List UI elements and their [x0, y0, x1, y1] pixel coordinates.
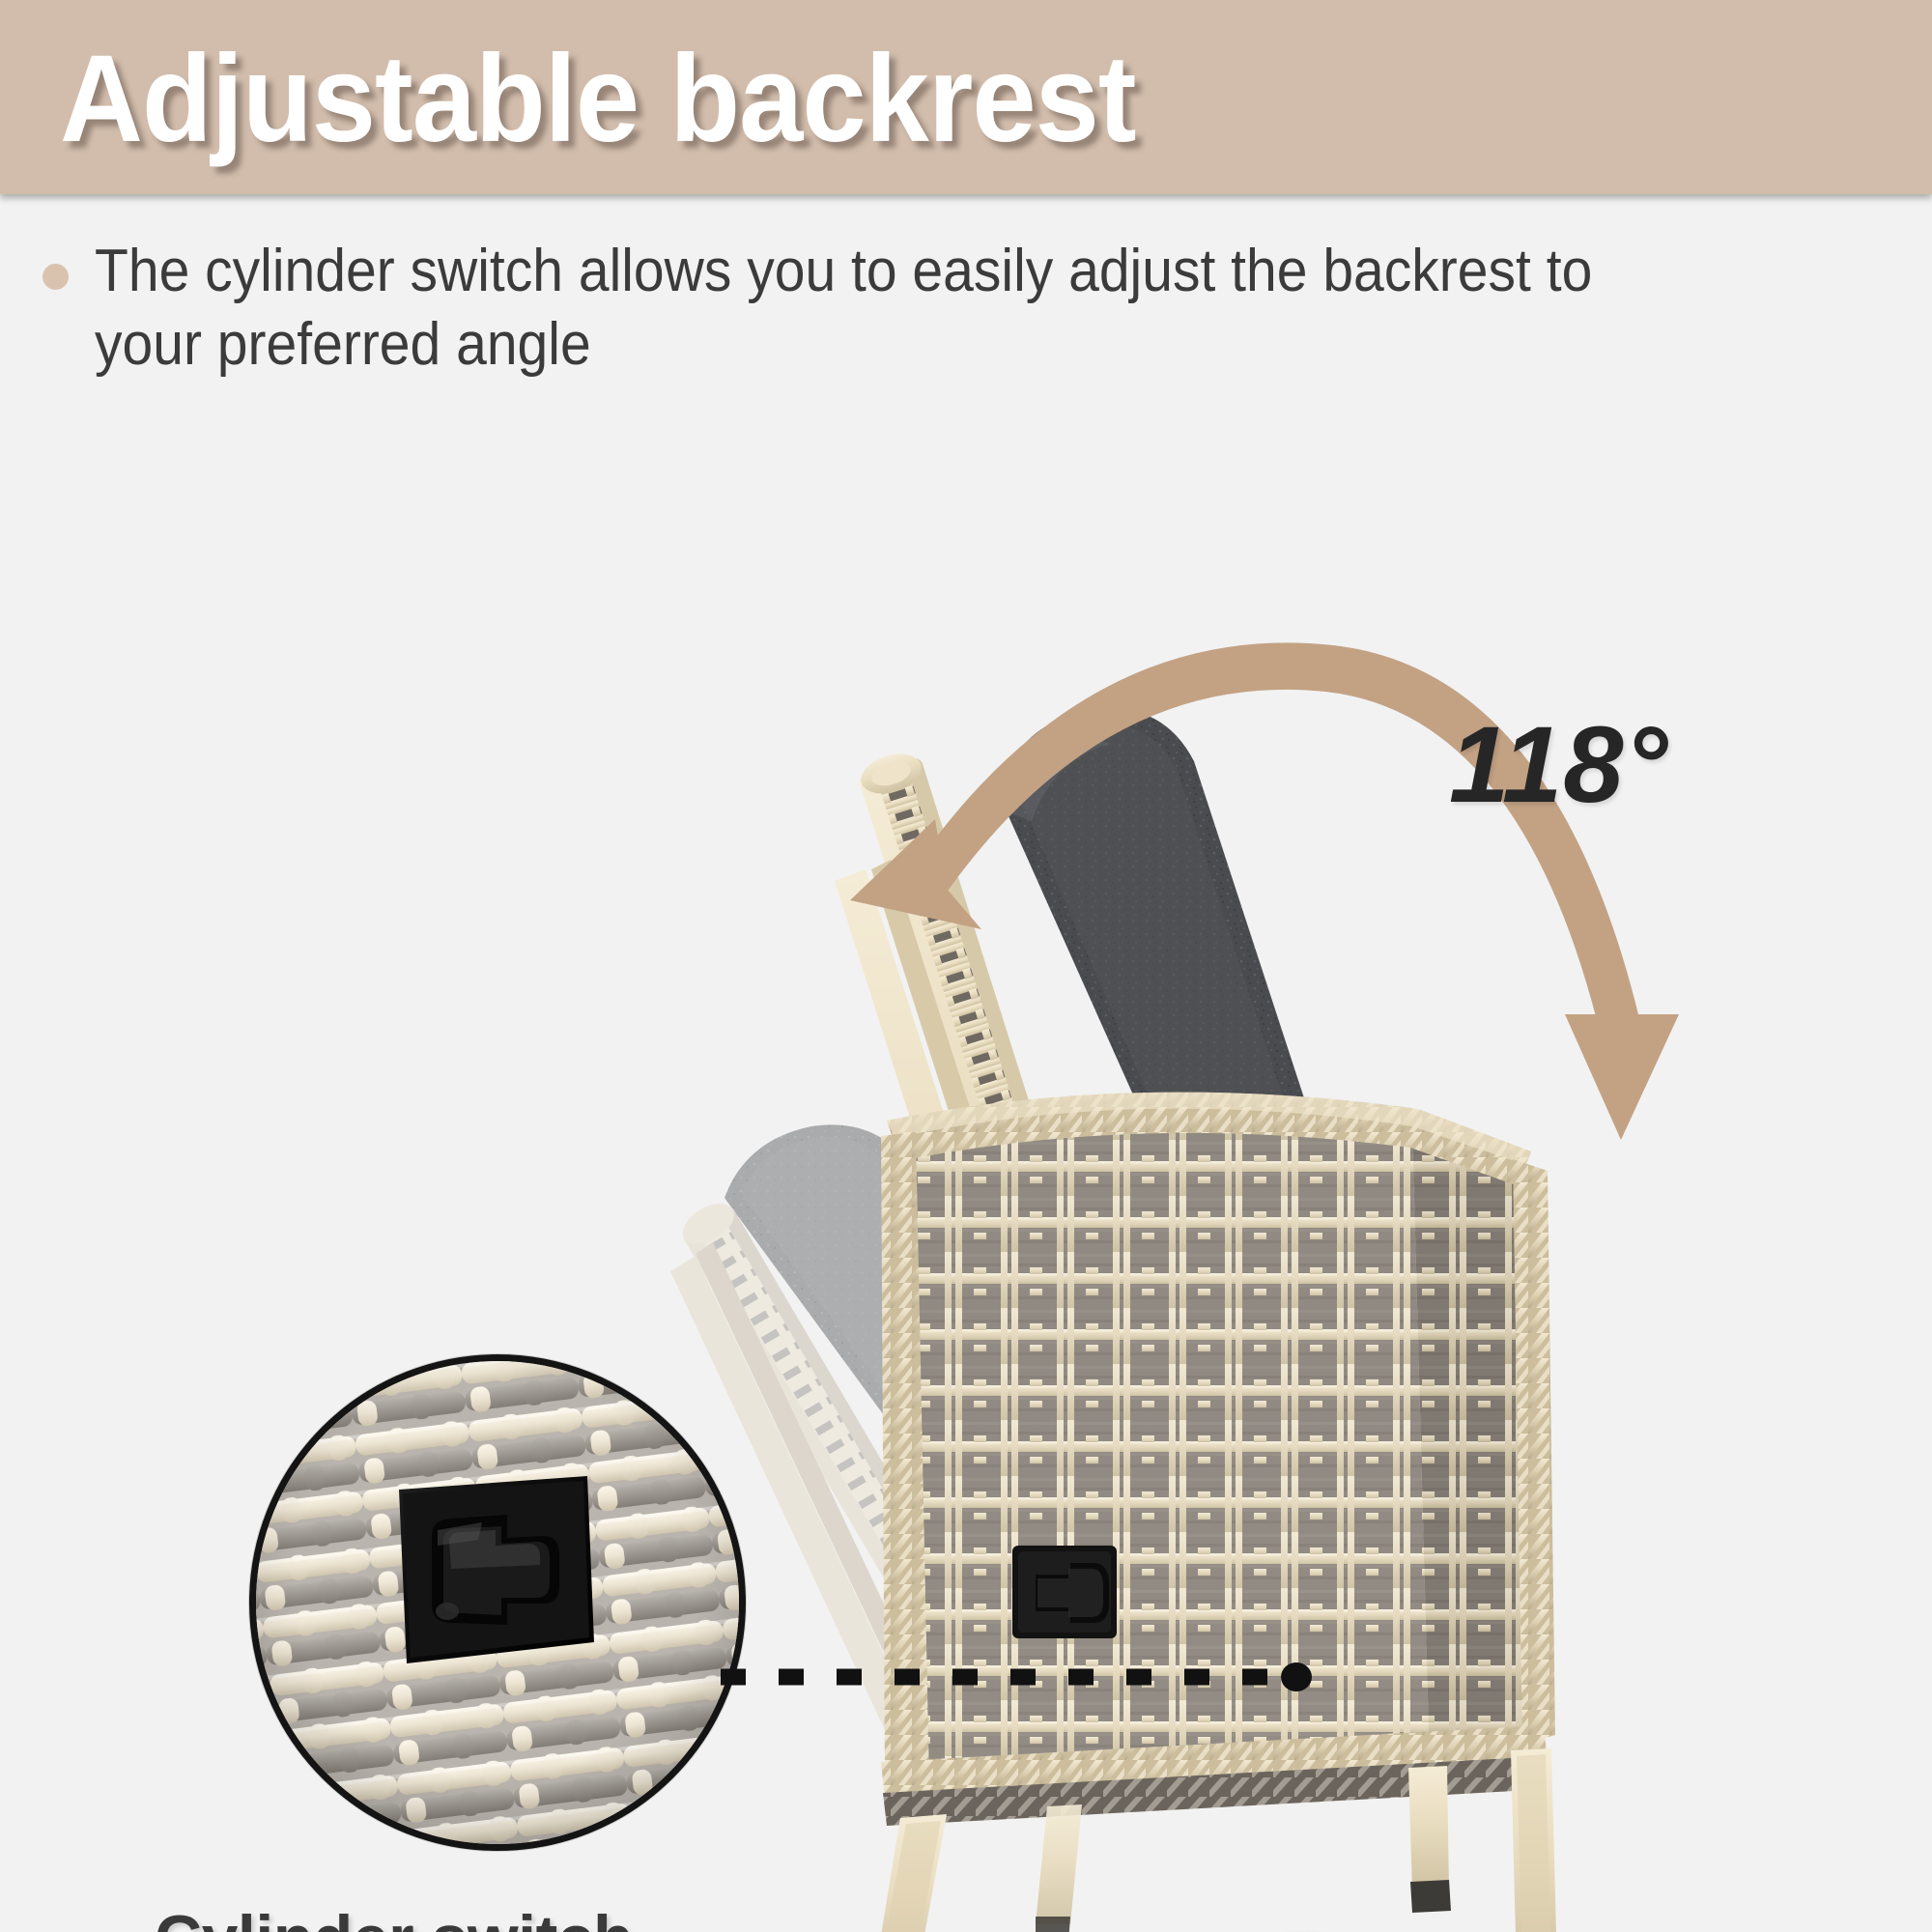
feature-bullet-text: The cylinder switch allows you to easily…: [95, 235, 1686, 382]
callout-connector-line: [717, 1662, 1316, 1692]
angle-value-label: 118°: [1449, 702, 1668, 827]
arrow-down-icon: [1565, 1014, 1679, 1140]
bullet-dot-icon: [43, 264, 69, 290]
callout-caption: Cylinder switch: [155, 1901, 633, 1932]
cylinder-switch-on-chair: [1012, 1546, 1117, 1638]
product-photo-scene: 118°: [0, 193, 1932, 1932]
infographic-canvas: 118°: [0, 0, 1932, 1932]
arc-band: [906, 642, 1640, 1032]
angle-arc-arrow: [792, 560, 1758, 1314]
cylinder-switch-callout: [249, 1354, 746, 1851]
header-banner: Adjustable backrest: [0, 0, 1932, 194]
cylinder-switch-detail: [389, 1472, 597, 1670]
page-title: Adjustable backrest: [60, 27, 1136, 172]
connector-end-dot: [1281, 1662, 1312, 1691]
